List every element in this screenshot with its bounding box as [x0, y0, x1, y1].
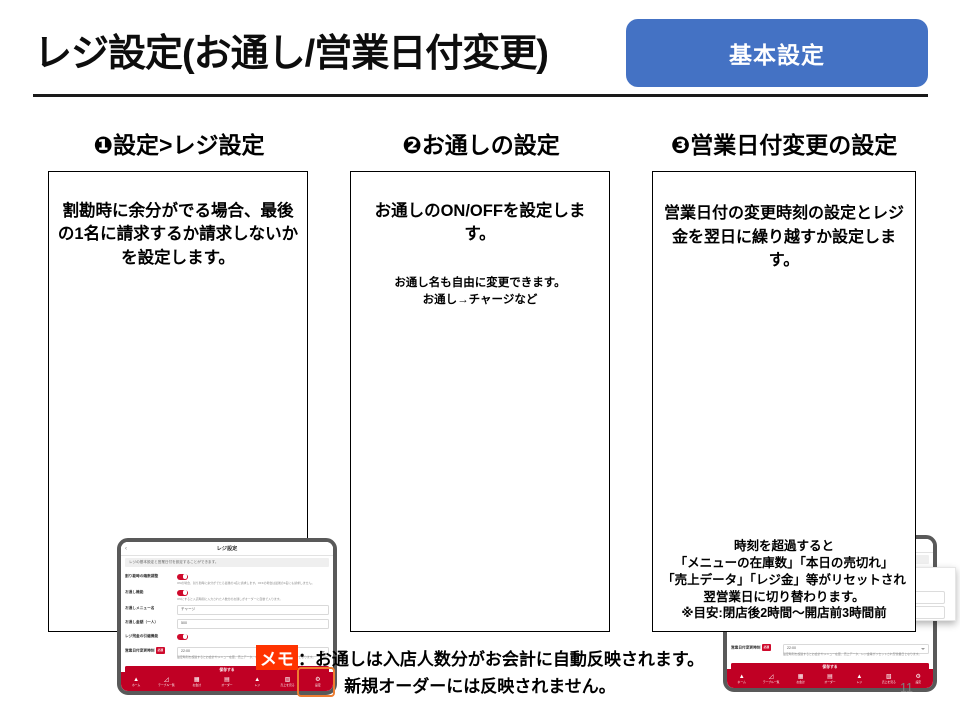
panel-3-footnote: 時刻を超過すると 「メニューの在庫数」「本日の売切れ」 「売上データ」「レジ金」…: [657, 538, 911, 622]
input-otoshi-name[interactable]: チャージ: [177, 605, 329, 615]
form-row-carryover: レジ残金の引継機能: [125, 633, 329, 642]
panel-step-2: お通しのON/OFFを設定します。 お通し名も自由に変更できます。 お通し→チャ…: [350, 171, 610, 632]
screen-title: レジ設定: [121, 545, 333, 552]
form-row-otoshi: お通し機能 ONにすると入店時間に入力された人数分のお通しがオーダーに自動で入り…: [125, 589, 329, 601]
column-heading-3: ❸営業日付変更の設定: [650, 126, 918, 156]
panel-2-lead: お通しのON/OFFを設定します。: [359, 200, 601, 247]
input-value: 500: [181, 621, 187, 625]
panel-2-sublead: お通し名も自由に変更できます。 お通し→チャージなど: [359, 275, 601, 308]
form-label: お通し金額（一人）: [125, 619, 173, 625]
notice-bar: レジの基本設定と営業日付を設定することができます。: [125, 558, 329, 567]
panel-3-lead: 営業日付の変更時刻の設定とレジ金を翌日に繰り越すか設定します。: [661, 202, 907, 273]
header-divider: [33, 94, 928, 97]
memo-line-1: メモ：お通しは入店人数分がお会計に自動反映されます。: [0, 645, 960, 670]
form-label: お通し機能: [125, 589, 173, 595]
panel-step-3: 営業日付の変更時刻の設定とレジ金を翌日に繰り越すか設定します。 ‹ レジ設定 レ…: [652, 171, 916, 632]
screen-header: ‹ レジ設定: [121, 542, 333, 556]
form-label: 割り勘時の端数調整: [125, 573, 173, 579]
toggle-otoshi[interactable]: [177, 590, 188, 596]
page-title: レジ設定(お通し/営業日付変更): [34, 22, 634, 77]
memo-tag: メモ: [256, 645, 298, 670]
notice-text: レジの基本設定と営業日付を設定することができます。: [129, 560, 218, 565]
form-label: お通しメニュー名: [125, 605, 173, 611]
memo-block: メモ：お通しは入店人数分がお会計に自動反映されます。 新規オーダーには反映されま…: [0, 645, 960, 697]
form-hint: ONにすると入店時間に入力された人数分のお通しがオーダーに自動で入ります。: [177, 597, 329, 601]
input-value: チャージ: [181, 607, 195, 612]
form-row-otoshi-name: お通しメニュー名 チャージ: [125, 605, 329, 614]
category-badge: 基本設定: [626, 19, 928, 87]
input-otoshi-price[interactable]: 500: [177, 619, 329, 629]
memo-line-1-text: ：お通しは入店人数分がお会計に自動反映されます。: [298, 650, 704, 669]
form-row-rounding: 割り勘時の端数調整 ONの場合、割り勘時に余分がでたら最後の1名に請求します。O…: [125, 573, 329, 585]
form-hint: ONの場合、割り勘時に余分がでたら最後の1名に請求します。OFFの場合は最後の1…: [177, 581, 329, 585]
memo-line-2: 新規オーダーには反映されません。: [0, 672, 960, 697]
column-heading-2: ❷お通しの設定: [350, 126, 612, 156]
form-row-otoshi-price: お通し金額（一人） 500: [125, 619, 329, 628]
panel-step-1: 割勘時に余分がでる場合、最後の1名に請求するか請求しないかを設定します。 ‹ レ…: [48, 171, 308, 632]
column-heading-1: ❶設定>レジ設定: [48, 126, 310, 156]
form-label: レジ残金の引継機能: [125, 633, 173, 639]
toggle-carryover[interactable]: [177, 634, 188, 640]
panel-1-lead: 割勘時に余分がでる場合、最後の1名に請求するか請求しないかを設定します。: [57, 200, 299, 270]
slide: レジ設定(お通し/営業日付変更) 基本設定 ❶設定>レジ設定 ❷お通しの設定 ❸…: [0, 0, 960, 720]
toggle-rounding[interactable]: [177, 574, 188, 580]
page-number: 11: [900, 681, 913, 695]
